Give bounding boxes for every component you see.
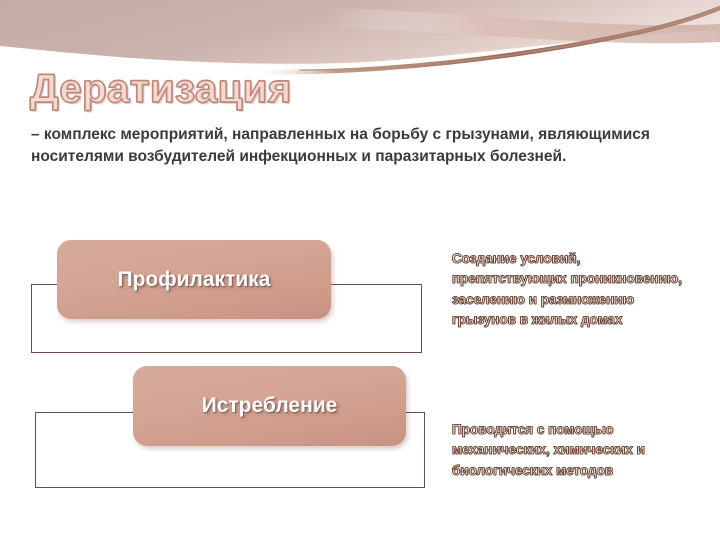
- header-ribbon-curve: [250, 8, 720, 72]
- node-extermination-label: Истребление: [202, 394, 338, 418]
- node-prophylaxis[interactable]: Профилактика: [57, 240, 331, 319]
- slide: Дератизация – комплекс мероприятий, напр…: [0, 0, 720, 540]
- lead-paragraph: – комплекс мероприятий, направленных на …: [31, 124, 695, 169]
- page-title: Дератизация: [30, 68, 292, 110]
- node-extermination[interactable]: Истребление: [133, 366, 406, 446]
- header-rose-shape: [0, 0, 720, 67]
- header-ribbon-curve-thin: [300, 7, 720, 70]
- node-extermination-description: Проводится с помощью механических, химич…: [452, 420, 692, 481]
- node-prophylaxis-label: Профилактика: [118, 268, 271, 292]
- header-pale-band: [330, 8, 720, 43]
- node-prophylaxis-description: Создание условий, препятствующих проникн…: [452, 249, 692, 330]
